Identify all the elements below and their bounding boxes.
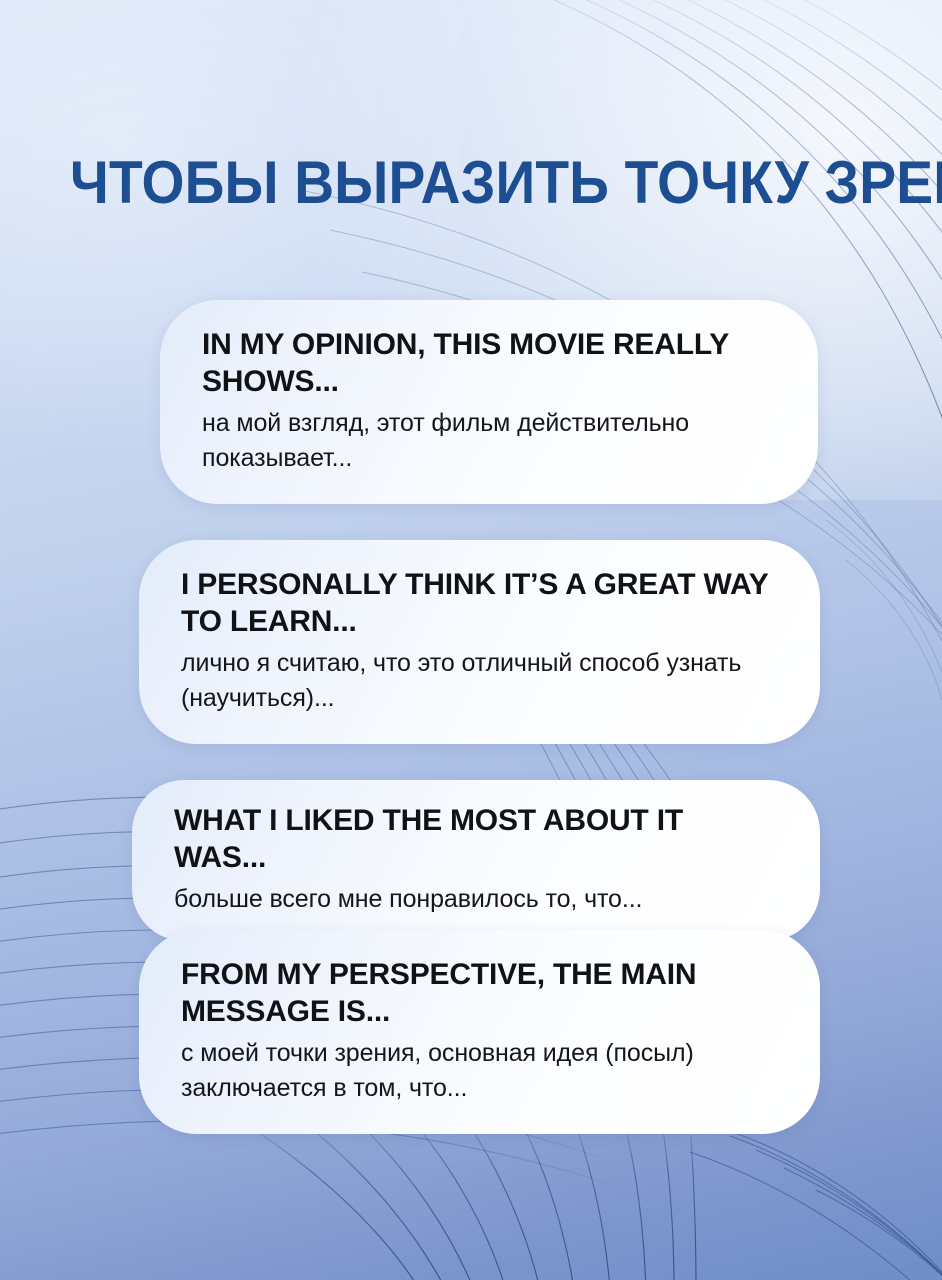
phrase-card-russian: на мой взгляд, этот фильм действительно … <box>202 406 778 476</box>
phrase-card-english: WHAT I LIKED THE MOST ABOUT IT WAS... <box>174 802 780 876</box>
poster-canvas: ЧТОБЫ ВЫРАЗИТЬ ТОЧКУ ЗРЕНИЯ: IN MY OPINI… <box>0 0 942 1280</box>
page-title: ЧТОБЫ ВЫРАЗИТЬ ТОЧКУ ЗРЕНИЯ: <box>70 152 824 214</box>
phrase-card: WHAT I LIKED THE MOST ABOUT IT WAS... бо… <box>132 780 820 941</box>
phrase-card-english: IN MY OPINION, THIS MOVIE REALLY SHOWS..… <box>202 326 778 400</box>
phrase-card: FROM MY PERSPECTIVE, THE MAIN MESSAGE IS… <box>139 930 820 1134</box>
phrase-card-russian: лично я считаю, что это отличный способ … <box>181 646 780 716</box>
phrase-card: I PERSONALLY THINK IT’S A GREAT WAY TO L… <box>139 540 820 744</box>
phrase-card: IN MY OPINION, THIS MOVIE REALLY SHOWS..… <box>160 300 818 504</box>
phrase-card-english: I PERSONALLY THINK IT’S A GREAT WAY TO L… <box>181 566 780 640</box>
phrase-card-russian: с моей точки зрения, основная идея (посы… <box>181 1036 780 1106</box>
phrase-card-russian: больше всего мне понравилось то, что... <box>174 882 780 917</box>
phrase-card-english: FROM MY PERSPECTIVE, THE MAIN MESSAGE IS… <box>181 956 780 1030</box>
